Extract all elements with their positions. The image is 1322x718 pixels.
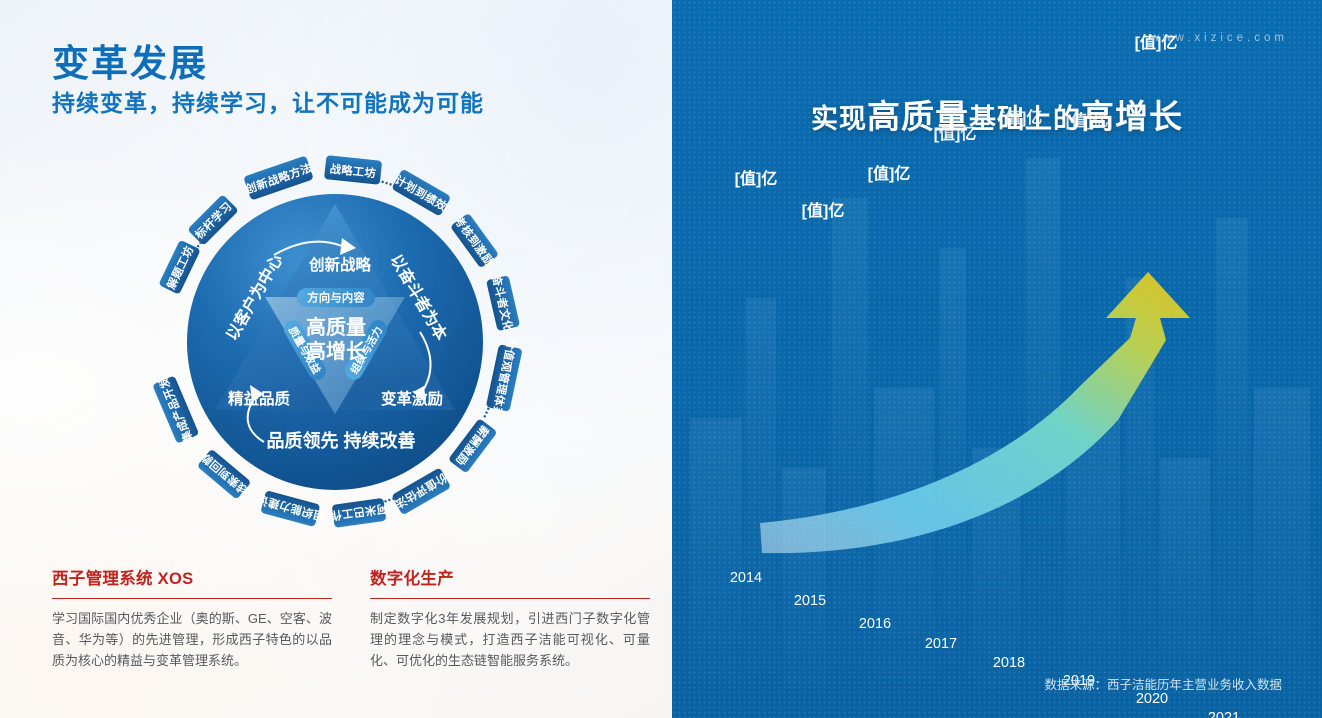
vertex-label-innovation: 创新战略 bbox=[308, 255, 372, 274]
column-digital: 数字化生产 制定数字化3年发展规划，引进西门子数字化管理的理念与模式，打造西子洁… bbox=[370, 565, 650, 672]
value-label-2014: [值]亿 bbox=[735, 169, 778, 188]
value-label-2016: [值]亿 bbox=[868, 164, 911, 183]
page-subtitle: 持续变革，持续学习，让不可能成为可能 bbox=[52, 84, 484, 118]
column-xos: 西子管理系统 XOS 学习国际国内优秀企业（奥的斯、GE、空客、波音、华为等）的… bbox=[52, 565, 332, 672]
vertex-label-quality: 精益品质 bbox=[228, 389, 291, 408]
xos-circular-diagram: ... ... ... ... 解题工坊 标杆学习 创新战略方法 战略工坊 计划… bbox=[104, 142, 566, 542]
core-text-line1: 高质量 bbox=[306, 315, 366, 339]
year-label-2021: 2021 bbox=[1208, 710, 1240, 718]
left-panel: 变革发展 持续变革，持续学习，让不可能成为可能 bbox=[0, 0, 672, 718]
bottom-slogan: 品质领先 持续改善 bbox=[266, 430, 415, 451]
chart-title-part3: 基础上的 bbox=[969, 104, 1081, 134]
page-title: 变革发展 bbox=[52, 33, 208, 87]
bottom-columns: 西子管理系统 XOS 学习国际国内优秀企业（奥的斯、GE、空客、波音、华为等）的… bbox=[52, 565, 652, 672]
year-axis-labels: 2014 2015 2016 2017 2018 2019 2020 2021 bbox=[730, 570, 1240, 718]
year-label-2014: 2014 bbox=[730, 570, 762, 586]
year-label-2020: 2020 bbox=[1136, 691, 1168, 707]
svg-text:方向与内容: 方向与内容 bbox=[307, 291, 365, 305]
slide-page: 变革发展 持续变革，持续学习，让不可能成为可能 bbox=[0, 0, 1322, 718]
column-heading-digital: 数字化生产 bbox=[370, 565, 650, 589]
column-divider bbox=[52, 598, 332, 599]
year-label-2018: 2018 bbox=[993, 655, 1025, 671]
data-source-note: 数据来源：西子洁能历年主营业务收入数据 bbox=[1044, 674, 1282, 693]
chart-title-part2: 高质量 bbox=[867, 98, 969, 135]
year-label-2015: 2015 bbox=[794, 593, 826, 609]
value-label-2015: [值]亿 bbox=[802, 201, 845, 220]
chart-title-part4: 高增长 bbox=[1081, 98, 1183, 135]
column-body-digital: 制定数字化3年发展规划，引进西门子数字化管理的理念与模式，打造西子洁能可视化、可… bbox=[370, 608, 650, 671]
chart-title-part1: 实现 bbox=[811, 104, 867, 134]
chart-title: 实现高质量基础上的高增长 bbox=[672, 90, 1322, 138]
inner-pill-direction: 方向与内容 bbox=[297, 288, 375, 307]
site-url: www.xizice.com bbox=[1151, 32, 1288, 44]
column-heading-xos: 西子管理系统 XOS bbox=[52, 565, 332, 589]
column-body-xos: 学习国际国内优秀企业（奥的斯、GE、空客、波音、华为等）的先进管理，形成西子特色… bbox=[52, 608, 332, 671]
core-text-line2: 高增长 bbox=[306, 339, 367, 363]
year-label-2017: 2017 bbox=[925, 636, 957, 652]
growth-arrow-annotation bbox=[760, 272, 1190, 553]
year-label-2016: 2016 bbox=[859, 616, 891, 632]
right-panel: www.xizice.com 实现高质量基础上的高增长 bbox=[672, 0, 1322, 718]
vertex-label-reform: 变革激励 bbox=[381, 389, 443, 408]
column-divider bbox=[370, 598, 650, 599]
